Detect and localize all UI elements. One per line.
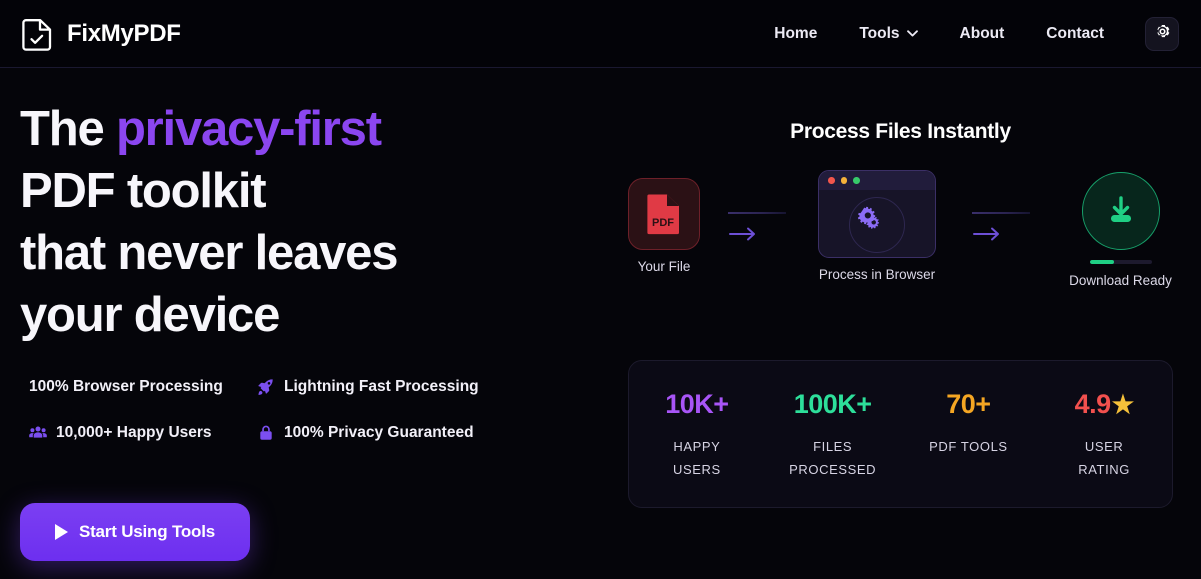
feature-badge-list: 100% Browser Processing Lightning Fast P… xyxy=(20,378,580,470)
connector-line xyxy=(728,212,786,214)
browser-titlebar xyxy=(819,171,935,190)
svg-text:PDF: PDF xyxy=(652,217,674,229)
badge-lightning-fast: Lightning Fast Processing xyxy=(257,378,479,396)
badge-label-privacy-guaranteed: 100% Privacy Guaranteed xyxy=(284,424,474,442)
brand-name: FixMyPDF xyxy=(67,20,181,48)
window-close-dot xyxy=(828,177,835,184)
badge-label-lightning-fast: Lightning Fast Processing xyxy=(284,378,479,396)
stat-label-line1: PDF TOOLS xyxy=(929,439,1008,454)
site-header: FixMyPDF Home Tools About Contact xyxy=(0,0,1201,68)
stat-label-line1: FILES xyxy=(813,439,852,454)
stat-value-files-processed: 100K+ xyxy=(765,389,901,420)
stat-label-line1: HAPPY xyxy=(673,439,720,454)
feature-badge-row-1: 100% Browser Processing Lightning Fast P… xyxy=(20,378,580,396)
flow-label-your-file: Your File xyxy=(628,259,700,274)
main-nav: Home Tools About Contact xyxy=(753,17,1179,51)
download-progress-bar xyxy=(1090,260,1152,264)
flow-connector-2 xyxy=(972,212,1030,247)
stat-rating-number: 4.9 xyxy=(1075,389,1111,420)
stat-value-pdf-tools: 70+ xyxy=(901,389,1037,420)
badge-privacy-guaranteed: 100% Privacy Guaranteed xyxy=(257,424,474,442)
stat-label-line2: USERS xyxy=(673,462,721,477)
pdf-file-icon: PDF xyxy=(628,178,700,250)
stat-user-rating: 4.9 ★ USER RATING xyxy=(1036,389,1172,481)
chevron-down-icon xyxy=(907,30,918,37)
stat-label-happy-users: HAPPY USERS xyxy=(629,435,765,481)
stat-pdf-tools: 70+ PDF TOOLS xyxy=(901,389,1037,458)
headline-line-2: PDF toolkit xyxy=(20,164,265,218)
nav-label-tools: Tools xyxy=(859,25,899,43)
flow-step-process-in-browser: Process in Browser xyxy=(818,170,936,282)
stat-label-user-rating: USER RATING xyxy=(1036,435,1172,481)
star-icon: ★ xyxy=(1112,390,1134,420)
landing-page: FixMyPDF Home Tools About Contact xyxy=(0,0,1201,579)
window-minimize-dot xyxy=(841,177,848,184)
nav-label-contact: Contact xyxy=(1046,25,1104,43)
flow-label-download-ready: Download Ready xyxy=(1068,273,1173,288)
settings-button[interactable] xyxy=(1145,17,1179,51)
arrow-right-icon xyxy=(728,226,786,247)
cta-label: Start Using Tools xyxy=(79,522,215,542)
stat-label-files-processed: FILES PROCESSED xyxy=(765,435,901,481)
stat-files-processed: 100K+ FILES PROCESSED xyxy=(765,389,901,481)
gear-icon xyxy=(1154,23,1171,45)
stat-label-line2: PROCESSED xyxy=(789,462,876,477)
document-check-icon xyxy=(22,17,54,51)
nav-label-home: Home xyxy=(774,25,817,43)
headline-line-4: your device xyxy=(20,288,279,342)
window-maximize-dot xyxy=(853,177,860,184)
badge-label-happy-users: 10,000+ Happy Users xyxy=(56,424,212,442)
headline-line-1: The xyxy=(20,102,116,156)
nav-item-home[interactable]: Home xyxy=(753,17,838,51)
browser-gears-icon xyxy=(818,170,936,258)
browser-content xyxy=(819,190,935,258)
flow-step-your-file: PDF Your File xyxy=(628,178,700,274)
rocket-icon xyxy=(257,378,275,396)
users-icon xyxy=(29,424,47,442)
headline-accent: privacy-first xyxy=(116,102,381,156)
nav-item-tools[interactable]: Tools xyxy=(838,17,938,51)
flow-connector-1 xyxy=(728,212,786,247)
badge-browser-processing: 100% Browser Processing xyxy=(20,378,257,396)
badge-label-browser-processing: 100% Browser Processing xyxy=(29,378,223,396)
stat-label-line1: USER xyxy=(1085,439,1124,454)
download-icon xyxy=(1082,172,1160,250)
stats-panel: 10K+ HAPPY USERS 100K+ FILES PROCESSED 7… xyxy=(628,360,1173,508)
flow-step-download-ready: Download Ready xyxy=(1068,172,1173,288)
stat-value-user-rating: 4.9 ★ xyxy=(1036,389,1172,420)
flow-label-process-in-browser: Process in Browser xyxy=(818,267,936,282)
download-progress-fill xyxy=(1090,260,1115,264)
page-title: The privacy-first PDF toolkit that never… xyxy=(20,98,580,346)
arrow-right-icon xyxy=(972,226,1030,247)
stat-label-pdf-tools: PDF TOOLS xyxy=(901,435,1037,458)
start-using-tools-button[interactable]: Start Using Tools xyxy=(20,503,250,561)
connector-line xyxy=(972,212,1030,214)
nav-item-contact[interactable]: Contact xyxy=(1025,17,1125,51)
stat-value-happy-users: 10K+ xyxy=(629,389,765,420)
process-panel-title: Process Files Instantly xyxy=(628,120,1173,144)
nav-label-about: About xyxy=(960,25,1005,43)
stat-happy-users: 10K+ HAPPY USERS xyxy=(629,389,765,481)
feature-badge-row-2: 10,000+ Happy Users 100% Privacy Guarant… xyxy=(20,424,580,442)
nav-item-about[interactable]: About xyxy=(939,17,1026,51)
hero-headline-block: The privacy-first PDF toolkit that never… xyxy=(20,98,580,346)
play-icon xyxy=(55,524,68,540)
lock-icon xyxy=(257,424,275,442)
stat-label-line2: RATING xyxy=(1078,462,1130,477)
headline-line-3: that never leaves xyxy=(20,226,397,280)
badge-happy-users: 10,000+ Happy Users xyxy=(20,424,257,442)
process-flow: PDF Your File xyxy=(628,170,1173,305)
brand-logo-link[interactable]: FixMyPDF xyxy=(22,17,181,51)
